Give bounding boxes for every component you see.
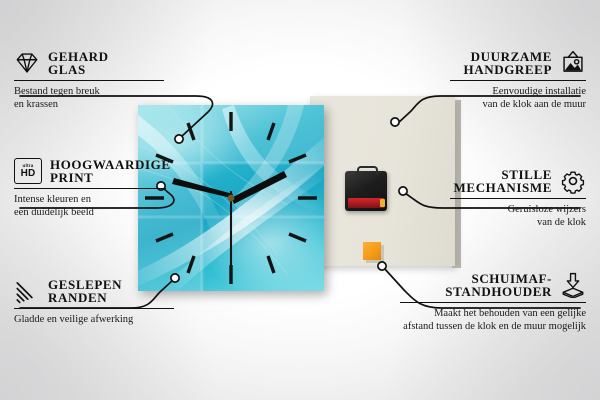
feature-titles: DUURZAME HANDGREEP — [464, 50, 552, 77]
feature-divider — [450, 80, 586, 82]
feature-desc-line1: Gladde en veilige afwerking — [14, 313, 174, 326]
ultra-hd-large-label: HD — [21, 169, 36, 179]
feature-description: Intense kleuren en een duidelijk beeld — [14, 193, 166, 219]
feature-desc-line2: van de klok aan de muur — [450, 98, 586, 111]
feature-title-line1: GESLEPEN — [48, 278, 122, 291]
infographic-canvas: GEHARD GLAS Bestand tegen breuk en krass… — [0, 0, 600, 400]
feature-header: GEHARD GLAS — [14, 50, 164, 77]
feature-title-line1: HOOGWAARDIGE — [50, 158, 171, 171]
feature-titles: STILLE MECHANISME — [454, 168, 552, 195]
feature-title-line2: STANDHOUDER — [445, 285, 552, 298]
feature-desc-line1: Geruisloze wijzers — [450, 203, 586, 216]
feature-divider — [400, 302, 586, 304]
feature-title-line2: HANDGREEP — [464, 63, 552, 76]
feature-description: Gladde en veilige afwerking — [14, 313, 174, 326]
connector-dot-foam — [378, 262, 386, 270]
feature-stille-mechanisme: STILLE MECHANISME Geruisloze wijzers van… — [450, 168, 586, 229]
feature-description: Geruisloze wijzers van de klok — [450, 203, 586, 229]
bevelled-edges-icon — [14, 278, 40, 304]
feature-desc-line1: Bestand tegen breuk — [14, 85, 164, 98]
feature-desc-line1: Eenvoudige installatie — [450, 85, 586, 98]
feature-desc-line2: een duidelijk beeld — [14, 206, 166, 219]
feature-divider — [14, 308, 174, 310]
feature-divider — [450, 198, 586, 200]
feature-title-line1: GEHARD — [48, 50, 109, 63]
feature-header: ultra HD HOOGWAARDIGE PRINT — [14, 158, 166, 185]
feature-title-line1: DUURZAME — [471, 50, 552, 63]
feature-title-line2: GLAS — [48, 63, 109, 76]
feature-title-line2: RANDEN — [48, 291, 122, 304]
feature-schuimafstandhouder: SCHUIMAF- STANDHOUDER Maakt het behouden… — [400, 272, 586, 333]
feature-title-line1: STILLE — [501, 168, 552, 181]
feature-description: Bestand tegen breuk en krassen — [14, 85, 164, 111]
foam-spacer-icon — [560, 272, 586, 298]
feature-gehard-glas: GEHARD GLAS Bestand tegen breuk en krass… — [14, 50, 164, 111]
connector-dot-mechanism — [399, 187, 407, 195]
feature-hoogwaardige-print: ultra HD HOOGWAARDIGE PRINT Intense kleu… — [14, 158, 166, 219]
connector-dot-handle — [391, 118, 399, 126]
feature-desc-line2: van de klok — [450, 216, 586, 229]
feature-desc-line1: Maakt het behouden van een gelijke — [400, 307, 586, 320]
diamond-icon — [14, 50, 40, 76]
feature-titles: HOOGWAARDIGE PRINT — [50, 158, 171, 185]
feature-titles: SCHUIMAF- STANDHOUDER — [445, 272, 552, 299]
feature-header: SCHUIMAF- STANDHOUDER — [400, 272, 586, 299]
feature-divider — [14, 80, 164, 82]
connector-dot-glass — [175, 135, 183, 143]
feature-desc-line2: en krassen — [14, 98, 164, 111]
feature-title-line2: PRINT — [50, 171, 171, 184]
feature-title-line1: SCHUIMAF- — [471, 272, 552, 285]
feature-description: Maakt het behouden van een gelijke afsta… — [400, 307, 586, 333]
gear-icon — [560, 168, 586, 194]
feature-description: Eenvoudige installatie van de klok aan d… — [450, 85, 586, 111]
feature-divider — [14, 188, 166, 190]
feature-title-line2: MECHANISME — [454, 181, 552, 194]
feature-desc-line2: afstand tussen de klok en de muur mogeli… — [400, 320, 586, 333]
feature-titles: GESLEPEN RANDEN — [48, 278, 122, 305]
feature-titles: GEHARD GLAS — [48, 50, 109, 77]
feature-header: DUURZAME HANDGREEP — [450, 50, 586, 77]
ultra-hd-icon: ultra HD — [14, 158, 42, 184]
feature-duurzame-handgreep: DUURZAME HANDGREEP Eenvoudige installati… — [450, 50, 586, 111]
feature-desc-line1: Intense kleuren en — [14, 193, 166, 206]
feature-header: STILLE MECHANISME — [450, 168, 586, 195]
feature-geslepen-randen: GESLEPEN RANDEN Gladde en veilige afwerk… — [14, 278, 174, 326]
picture-frame-icon — [560, 50, 586, 76]
feature-header: GESLEPEN RANDEN — [14, 278, 174, 305]
